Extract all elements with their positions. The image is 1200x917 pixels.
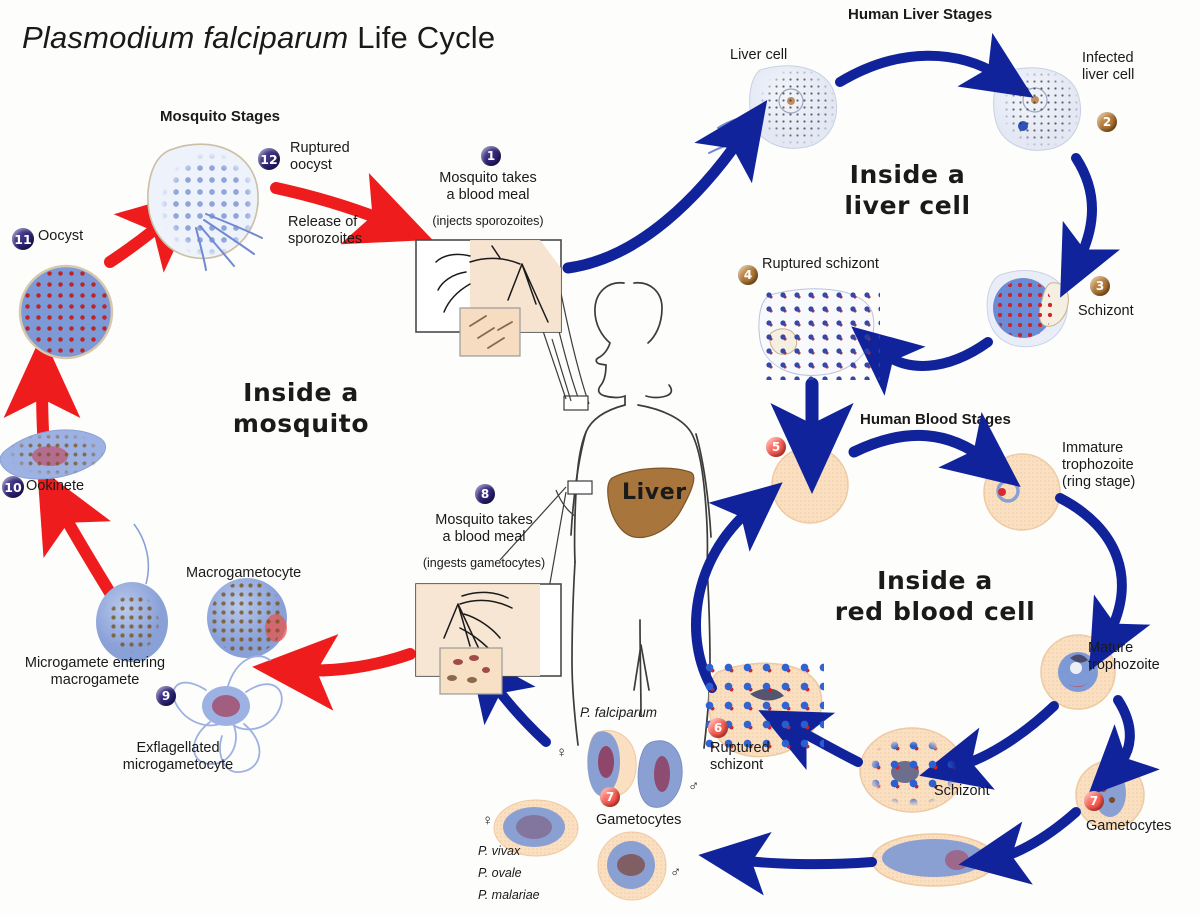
header-mosquito-stages: Mosquito Stages: [160, 108, 280, 125]
label-ookinete: Ookinete: [26, 478, 84, 495]
mosquito-bite-box-1: [416, 240, 561, 356]
ruptured-oocyst-sporozoites: [158, 150, 262, 260]
label-liver-schizont: Schizont: [1078, 303, 1134, 320]
title-species: Plasmodium falciparum: [22, 20, 348, 55]
compartment-mosquito-label: Inside a mosquito: [196, 378, 406, 439]
title-suffix: Life Cycle: [348, 20, 495, 55]
step-badge-8: 8: [475, 484, 495, 504]
compartment-red-blood-cell-label: Inside a red blood cell: [790, 566, 1080, 627]
liver-ruptured-merozoite-field: [762, 288, 880, 380]
ookinete-granules: [8, 432, 104, 476]
oocyst-merozoite-dots: [22, 268, 110, 356]
symbol-female-falciparum: ♀: [556, 744, 567, 761]
pv-male-gametocyte: [598, 832, 666, 900]
label-mosquito-blood-meal-1-sub: (injects sporozoites): [400, 214, 576, 229]
human-silhouette: [571, 283, 711, 748]
step-badge-7-center: 7: [600, 787, 620, 807]
label-p-vivax: P. vivax: [478, 844, 520, 859]
label-blood-ruptured-schizont: Ruptured schizont: [710, 740, 770, 774]
pointer-lines: [500, 263, 592, 640]
step-badge-7-right: 7: [1084, 791, 1104, 811]
step-badge-12: 12: [258, 148, 280, 170]
life-cycle-diagram: Plasmodium falciparum Life Cycle Mosquit…: [0, 0, 1200, 917]
symbol-male-vivax: ♂: [670, 864, 681, 881]
label-oocyst: Oocyst: [38, 228, 83, 245]
liver-cell-granules: [752, 62, 842, 152]
sporozoites-entering: [709, 119, 737, 153]
rbc-uninfected: [772, 447, 848, 523]
symbol-female-vivax: ♀: [482, 812, 493, 829]
label-p-malariae: P. malariae: [478, 888, 540, 903]
liver-schizont-merozoite-dots: [995, 280, 1053, 338]
step-badge-1: 1: [481, 146, 501, 166]
header-human-blood-stages: Human Blood Stages: [860, 411, 1011, 428]
infected-liver-cell-granules: [996, 64, 1086, 154]
mosquito-bite-box-2: [416, 584, 561, 694]
symbol-male-falciparum: ♂: [688, 778, 699, 795]
step-badge-9: 9: [156, 686, 176, 706]
pf-male-gametocyte: [638, 741, 682, 808]
step-badge-5: 5: [766, 437, 786, 457]
label-p-ovale: P. ovale: [478, 866, 522, 881]
label-blood-schizont: Schizont: [934, 783, 990, 800]
header-human-liver-stages: Human Liver Stages: [848, 6, 992, 23]
step-badge-2: 2: [1097, 112, 1117, 132]
label-p-falciparum: P. falciparum: [580, 705, 657, 721]
label-infected-liver-cell: Infected liver cell: [1082, 50, 1134, 84]
label-release-of-sporozoites: Release of sporozoites: [288, 214, 362, 248]
label-liver-cell: Liver cell: [730, 47, 787, 64]
page-title: Plasmodium falciparum Life Cycle: [22, 20, 495, 56]
compartment-liver-cell-label: Inside a liver cell: [800, 160, 1015, 221]
gametocyte-banana-bottom: [872, 834, 996, 886]
label-mosquito-blood-meal-2-sub: (ingests gametocytes): [390, 556, 578, 571]
rbc-immature-trophozoite: [984, 454, 1060, 530]
label-immature-trophozoite: Immature trophozoite (ring stage): [1062, 440, 1135, 490]
label-mosquito-blood-meal-1: Mosquito takes a blood meal: [408, 170, 568, 204]
label-liver-ruptured-schizont: Ruptured schizont: [762, 256, 879, 273]
label-exflagellated: Exflagellated microgametocyte: [98, 740, 258, 774]
label-mosquito-blood-meal-2: Mosquito takes a blood meal: [402, 512, 566, 546]
label-mature-trophozoite: Mature trophozoite: [1088, 640, 1160, 674]
label-gametocytes-right: Gametocytes: [1086, 818, 1171, 835]
label-macrogametocyte: Macrogametocyte: [186, 565, 301, 582]
label-ruptured-oocyst: Ruptured oocyst: [290, 140, 350, 174]
macrogametocyte-granules: [210, 581, 284, 655]
label-gametocytes-center: Gametocytes: [596, 812, 681, 829]
step-badge-3: 3: [1090, 276, 1110, 296]
step-badge-11: 11: [12, 228, 34, 250]
label-liver-organ: Liver: [622, 480, 687, 507]
step-badge-6: 6: [708, 718, 728, 738]
step-badge-10: 10: [2, 476, 24, 498]
step-badge-4: 4: [738, 265, 758, 285]
label-microgamete-entering: Microgamete entering macrogamete: [0, 655, 190, 689]
microgamete-granules: [100, 586, 166, 660]
